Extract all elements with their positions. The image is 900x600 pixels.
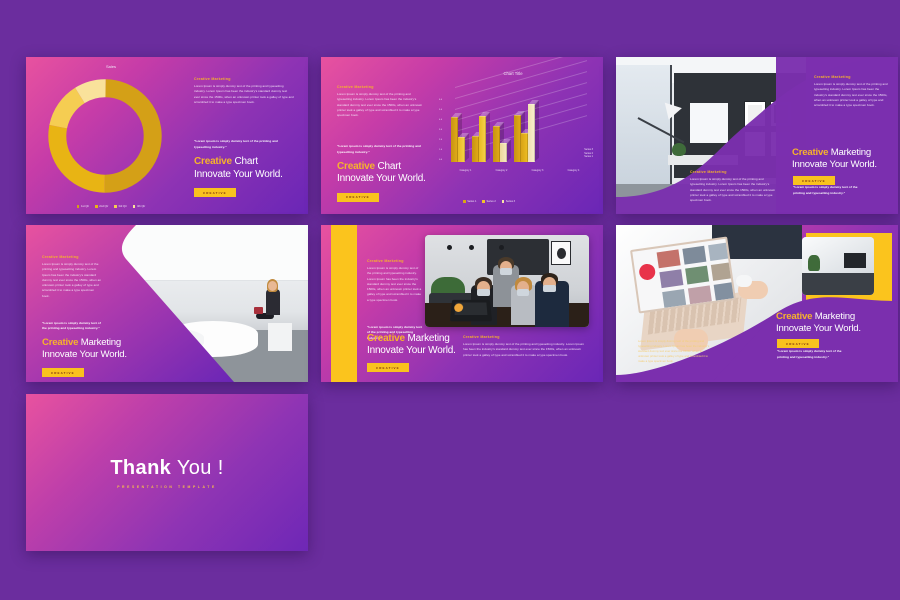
headline-line2: Innovate Your World.	[194, 169, 294, 181]
donut-chart-title: Sales	[26, 64, 196, 69]
bar-series-group	[451, 104, 535, 162]
headline-rest: Marketing	[812, 311, 855, 322]
slide-text-column-bottom: Creative Marketing Lorem Ipsum is simply…	[690, 170, 778, 203]
bar-c3-s2	[500, 143, 507, 162]
legend-label: Series 3	[506, 200, 515, 203]
body-paragraph: Lorem Ipsum is simply dummy text of the …	[194, 84, 294, 105]
page-title: Creative Marketing Innovate Your World.	[42, 337, 102, 360]
bar-c2-s2	[479, 116, 486, 162]
bar-cluster	[514, 104, 535, 162]
series-tag: Series 1	[584, 155, 593, 159]
body-paragraph: Lorem Ipsum is simply dummy text of the …	[690, 177, 778, 203]
eyebrow-label: Creative Marketing	[42, 255, 102, 259]
quote-text: "Lorem ipsum is simply dummy text of the…	[194, 139, 294, 150]
page-title: Creative Marketing Innovate Your World.	[792, 147, 877, 170]
legend-label: Series 2	[487, 200, 496, 203]
eyebrow-label: Creative Marketing	[690, 170, 778, 174]
creative-button[interactable]: CREATIVE	[793, 176, 835, 185]
page-title: Creative Marketing Innovate Your World.	[776, 311, 861, 334]
headline-line2: Innovate Your World.	[337, 173, 425, 185]
legend-swatch	[502, 200, 505, 203]
bar-c1-s2	[458, 137, 465, 162]
eyebrow-label: Creative Marketing	[814, 75, 888, 79]
bar-c4-s3	[528, 104, 535, 162]
bar-cluster	[493, 126, 507, 162]
slide-bar-chart[interactable]: Creative Marketing Lorem Ipsum is simply…	[321, 57, 603, 214]
y-tick: 2.0	[439, 139, 442, 141]
thank-you-title-light: You !	[171, 457, 223, 479]
x-tick: Category 4	[559, 169, 588, 172]
y-tick: 0.0	[439, 159, 442, 161]
headline-accent: Creative	[792, 147, 828, 158]
quote-text: "Lorem ipsum is simply dummy text of the…	[42, 321, 102, 332]
y-tick: 5.0	[439, 109, 442, 111]
slide-text-column: Creative Marketing Lorem Ipsum is simply…	[367, 259, 423, 342]
bar-chart-plot: 6.0 5.0 4.0 3.0 2.0 1.0 0.0	[429, 81, 597, 173]
legend-item: Series 2	[482, 200, 495, 203]
legend-swatch	[77, 205, 80, 208]
bar-c3-s1	[493, 126, 500, 162]
yellow-accent-bar	[331, 225, 357, 382]
legend-swatch	[95, 205, 98, 208]
y-axis-ticks: 6.0 5.0 4.0 3.0 2.0 1.0 0.0	[439, 99, 442, 161]
bar-c2-s1	[472, 136, 479, 162]
legend-item: 4th Qtr	[133, 205, 145, 208]
y-tick: 6.0	[439, 99, 442, 101]
page-title: Creative Chart Innovate Your World.	[337, 161, 425, 185]
legend-label: 1st Qtr	[81, 205, 89, 208]
x-tick: Category 1	[451, 169, 480, 172]
creative-button[interactable]: CREATIVE	[42, 368, 84, 377]
legend-swatch	[114, 205, 117, 208]
bar-c1-s1	[451, 117, 458, 162]
headline-line2: Innovate Your World.	[42, 349, 102, 361]
donut-chart-svg	[42, 73, 168, 199]
slide-thank-you[interactable]: Thank You ! PRESENTATION TEMPLATE	[26, 394, 308, 551]
headline-rest: Marketing	[405, 333, 450, 344]
headline-line2: Innovate Your World.	[367, 345, 456, 357]
legend-item: Series 1	[463, 200, 476, 203]
eyebrow-label: Creative Marketing	[367, 259, 423, 263]
legend-label: 4th Qtr	[137, 205, 145, 208]
thank-you-title: Thank You !	[110, 457, 223, 480]
bar-cluster	[472, 116, 486, 162]
slide-text-column: Creative Marketing Lorem Ipsum is simply…	[337, 85, 425, 203]
x-tick: Category 2	[487, 169, 516, 172]
creative-button[interactable]: CREATIVE	[367, 363, 409, 372]
legend-item: Series 3	[502, 200, 515, 203]
y-tick: 1.0	[439, 149, 442, 151]
page-title: Creative Marketing Innovate Your World.	[367, 333, 456, 357]
page-title: Creative Chart Innovate Your World.	[194, 156, 294, 180]
slide-text-column: Creative Marketing Lorem Ipsum is simply…	[194, 77, 294, 199]
bar-c4-s2	[521, 133, 528, 162]
y-tick: 3.0	[439, 129, 442, 131]
headline-line2: Innovate Your World.	[792, 159, 877, 171]
legend-label: Series 1	[467, 200, 476, 203]
team-meeting-photo	[425, 235, 589, 327]
body-paragraph: Lorem Ipsum is simply dummy text of the …	[337, 92, 425, 118]
thank-you-content: Thank You ! PRESENTATION TEMPLATE	[26, 394, 308, 551]
headline-accent: Creative	[194, 156, 232, 167]
slide-grid-board: Sales 1st Qtr 2nd Qtr 3rd Qtr	[0, 0, 900, 600]
donut-chart	[42, 73, 168, 199]
eyebrow-label: Creative Marketing	[194, 77, 294, 81]
slide-interior-photo[interactable]: Creative Marketing Lorem Ipsum is simply…	[616, 57, 898, 214]
headline-accent: Creative	[367, 333, 405, 344]
x-tick: Category 3	[523, 169, 552, 172]
eyebrow-label: Creative Marketing	[463, 335, 589, 339]
headline-rest: Chart	[232, 156, 258, 167]
legend-item: 3rd Qtr	[114, 205, 127, 208]
donut-chart-legend: 1st Qtr 2nd Qtr 3rd Qtr 4th Qtr	[26, 205, 196, 208]
headline-accent: Creative	[337, 161, 375, 172]
legend-swatch	[482, 200, 485, 203]
slide-office-photo[interactable]: Creative Marketing Lorem Ipsum is simply…	[26, 225, 308, 382]
x-axis-ticks: Category 1 Category 2 Category 3 Categor…	[451, 169, 591, 172]
headline-rest: Marketing	[78, 337, 121, 348]
gold-note-paragraph: Lorem Ipsum is simply dummy text of the …	[638, 339, 710, 364]
slide-text-column: Creative Marketing Lorem Ipsum is simply…	[42, 255, 102, 379]
headline-accent: Creative	[776, 311, 812, 322]
body-paragraph: Lorem Ipsum is simply dummy text of the …	[42, 262, 102, 299]
thank-you-title-bold: Thank	[110, 457, 171, 479]
headline-rest: Chart	[375, 161, 401, 172]
bar-chart: Chart Title 6.0 5.0 4.0 3.0 2.0 1.0 0.0	[429, 71, 597, 191]
body-paragraph: Lorem Ipsum is simply dummy text of the …	[814, 82, 888, 108]
bar-c4-s1	[514, 115, 521, 162]
legend-swatch	[463, 200, 466, 203]
body-paragraph: Lorem Ipsum is simply dummy text of the …	[463, 342, 589, 358]
creative-button[interactable]: CREATIVE	[777, 339, 819, 348]
y-tick: 4.0	[439, 119, 442, 121]
headline-accent: Creative	[42, 337, 78, 348]
legend-label: 3rd Qtr	[118, 205, 126, 208]
legend-item: 1st Qtr	[77, 205, 89, 208]
creative-button[interactable]: CREATIVE	[337, 193, 379, 202]
eyebrow-label: Creative Marketing	[337, 85, 425, 89]
thank-you-subtitle: PRESENTATION TEMPLATE	[117, 485, 217, 489]
headline-rest: Marketing	[828, 147, 871, 158]
legend-swatch	[133, 205, 136, 208]
bar-cluster	[451, 117, 465, 162]
slide-text-column-bottom: Creative Marketing Lorem Ipsum is simply…	[463, 335, 589, 358]
legend-item: 2nd Qtr	[95, 205, 108, 208]
body-paragraph: Lorem Ipsum is simply dummy text of the …	[367, 266, 423, 303]
slide-laptop-photo[interactable]: Lorem Ipsum is simply dummy text of the …	[616, 225, 898, 382]
slide-donut-chart[interactable]: Sales 1st Qtr 2nd Qtr 3rd Qtr	[26, 57, 308, 214]
legend-label: 2nd Qtr	[99, 205, 108, 208]
creative-button[interactable]: CREATIVE	[194, 188, 236, 197]
series-depth-tags: Series 3 Series 2 Series 1	[584, 148, 593, 159]
bar-chart-legend: Series 1 Series 2 Series 3	[463, 200, 515, 203]
slide-text-column-top: Creative Marketing Lorem Ipsum is simply…	[814, 75, 888, 108]
headline-line2: Innovate Your World.	[776, 323, 861, 335]
slide-meeting-photo[interactable]: Creative Marketing Lorem Ipsum is simply…	[321, 225, 603, 382]
quote-text: "Lorem ipsum is simply dummy text of the…	[793, 185, 865, 196]
quote-text: "Lorem ipsum is simply dummy text of the…	[777, 349, 847, 360]
quote-text: "Lorem ipsum is simply dummy text of the…	[337, 144, 425, 155]
